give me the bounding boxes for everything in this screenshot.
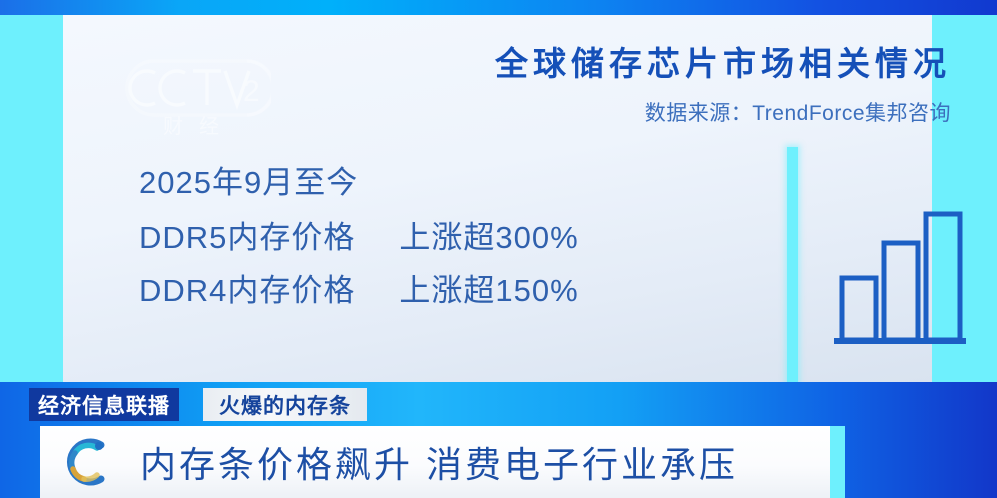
svg-text:财经: 财经 <box>163 115 235 137</box>
stats-period-label: 2025年9月至今 <box>139 157 579 202</box>
bar-3 <box>926 214 960 340</box>
cctv-finance-swirl-logo-icon <box>54 431 116 493</box>
stat-value-ddr4: 上涨超150% <box>399 265 578 310</box>
stat-label-ddr4: DDR4内存价格 <box>139 265 355 310</box>
bar-2 <box>884 243 918 340</box>
info-panel: 2 财经 全球储存芯片市场相关情况 数据来源：TrendForce集邦咨询 20… <box>63 15 932 382</box>
data-source-label: 数据来源：TrendForce集邦咨询 <box>463 97 951 127</box>
left-cyan-band <box>0 15 63 382</box>
bar-chart-icon <box>828 200 968 350</box>
lower-third: 经济信息联播 火爆的内存条 内存条价格飙升 消费电子行业承压 <box>0 382 997 498</box>
stat-value-ddr5: 上涨超300% <box>399 212 578 257</box>
top-accent-strip <box>0 0 997 15</box>
stats-block: 2025年9月至今 DDR5内存价格 上涨超300% DDR4内存价格 上涨超1… <box>139 157 579 318</box>
program-name-tag: 经济信息联播 <box>29 388 179 421</box>
stat-label-ddr5: DDR5内存价格 <box>139 212 355 257</box>
topic-tag: 火爆的内存条 <box>203 388 367 421</box>
chart-baseline <box>834 338 966 344</box>
cctv2-watermark-logo: 2 财经 <box>121 45 271 137</box>
svg-text:2: 2 <box>243 75 260 108</box>
stat-row-ddr4: DDR4内存价格 上涨超150% <box>139 265 579 310</box>
bar-1 <box>842 278 876 340</box>
headline-bar: 内存条价格飙升 消费电子行业承压 <box>40 426 830 498</box>
broadcast-frame: 2 财经 全球储存芯片市场相关情况 数据来源：TrendForce集邦咨询 20… <box>0 0 997 498</box>
topic-label: 火爆的内存条 <box>219 390 351 420</box>
program-name-label: 经济信息联播 <box>38 390 170 420</box>
headline-bar-cyan-edge <box>830 426 845 498</box>
page-title: 全球储存芯片市场相关情况 <box>463 43 951 84</box>
chart-title-block: 全球储存芯片市场相关情况 数据来源：TrendForce集邦咨询 <box>463 43 983 127</box>
headline-text: 内存条价格飙升 消费电子行业承压 <box>140 436 738 488</box>
cyan-accent-divider <box>787 147 798 395</box>
stat-row-ddr5: DDR5内存价格 上涨超300% <box>139 212 579 257</box>
